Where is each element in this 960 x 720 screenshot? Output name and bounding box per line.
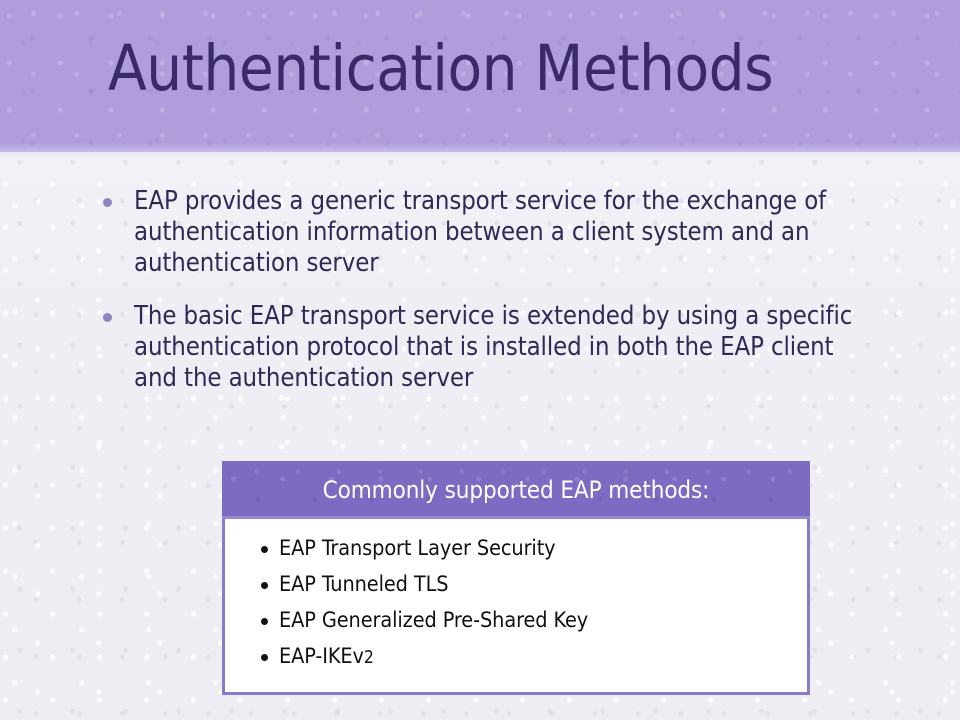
slide-canvas: Authentication Methods EAP provides a ge… bbox=[0, 0, 960, 720]
list-item-label: EAP provides a generic transport service… bbox=[134, 186, 826, 278]
list-item: The basic EAP transport service is exten… bbox=[92, 301, 882, 394]
round-bullet-icon bbox=[261, 654, 268, 661]
body-bullet-list: EAP provides a generic transport service… bbox=[92, 186, 882, 394]
list-item: EAP provides a generic transport service… bbox=[92, 186, 882, 279]
methods-list: EAP Transport Layer Security EAP Tunnele… bbox=[225, 519, 807, 692]
list-item-label: EAP Tunneled TLS bbox=[279, 572, 448, 597]
page-title: Authentication Methods bbox=[108, 36, 928, 102]
round-bullet-icon bbox=[103, 313, 112, 322]
list-item-label: EAP-IKEv bbox=[279, 644, 364, 669]
title-band-sheen bbox=[0, 142, 960, 152]
title-band-underline-strip bbox=[0, 152, 960, 159]
list-item-label: EAP Generalized Pre-Shared Key bbox=[279, 608, 588, 633]
round-bullet-icon bbox=[261, 618, 268, 625]
methods-box-header-label: Commonly supported EAP methods: bbox=[323, 476, 710, 504]
list-item-label: EAP Transport Layer Security bbox=[279, 536, 556, 561]
list-item-label: The basic EAP transport service is exten… bbox=[134, 301, 852, 393]
list-item: EAP Transport Layer Security bbox=[259, 537, 807, 561]
methods-box: Commonly supported EAP methods: EAP Tran… bbox=[222, 461, 810, 695]
methods-box-header: Commonly supported EAP methods: bbox=[222, 461, 810, 519]
list-item: EAP-IKEv2 bbox=[259, 645, 807, 670]
list-item-label-suffix: 2 bbox=[364, 648, 374, 668]
round-bullet-icon bbox=[261, 546, 268, 553]
round-bullet-icon bbox=[103, 198, 112, 207]
list-item: EAP Tunneled TLS bbox=[259, 573, 807, 597]
round-bullet-icon bbox=[261, 582, 268, 589]
list-item: EAP Generalized Pre-Shared Key bbox=[259, 609, 807, 633]
